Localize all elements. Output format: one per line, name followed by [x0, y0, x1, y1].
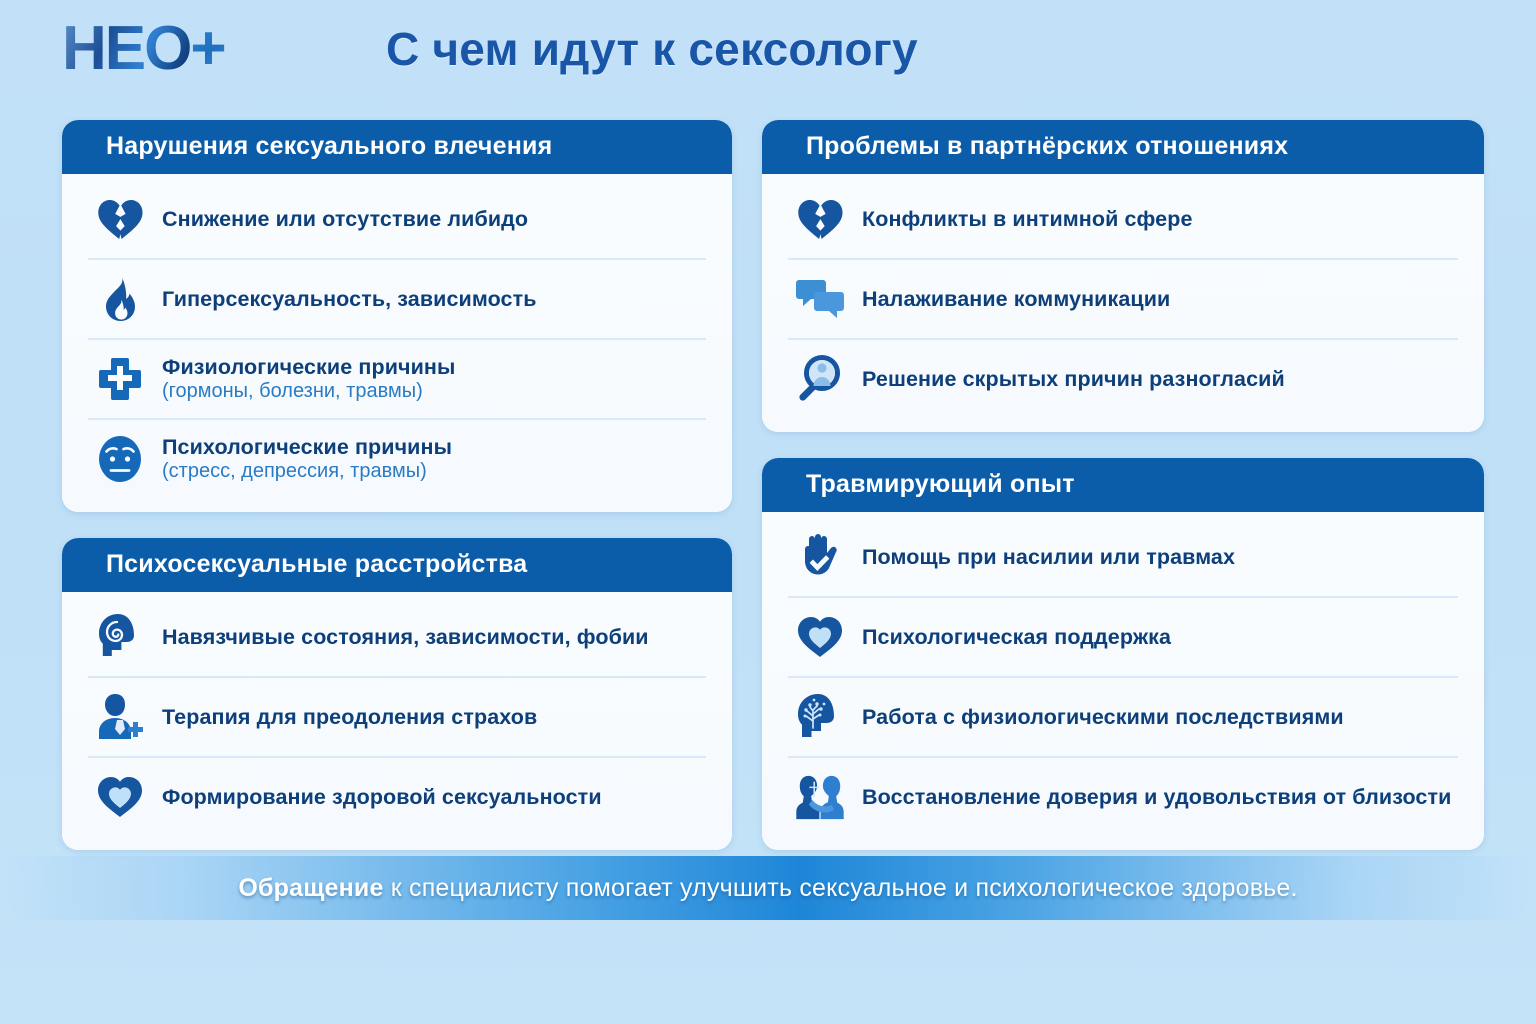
hand-check-icon — [794, 531, 846, 583]
list-item-text: Снижение или отсутствие либидо — [162, 207, 528, 232]
list-item-text: Психологическая поддержка — [862, 625, 1171, 650]
page-header: НЕО+ С чем идут к сексологу — [0, 0, 1536, 110]
brand-logo: НЕО+ — [62, 18, 225, 80]
list-item-text: Физиологические причины (гормоны, болезн… — [162, 355, 706, 403]
card-title: Травмирующий опыт — [806, 470, 1484, 499]
list-item[interactable]: Терапия для преодоления страхов — [88, 678, 706, 758]
list-item-label: Физиологические причины — [162, 355, 455, 379]
list-item-text: Терапия для преодоления страхов — [162, 705, 537, 730]
footer-text: Обращение к специалисту помогает улучшит… — [238, 874, 1297, 903]
heart-inner-icon — [94, 771, 146, 823]
list-item-text: Навязчивые состояния, зависимости, фобии — [162, 625, 649, 650]
card-title: Проблемы в партнёрских отношениях — [806, 132, 1484, 161]
card-body: Конфликты в интимной сфере Налаживание к… — [762, 174, 1484, 432]
list-item-label: Конфликты в интимной сфере — [862, 207, 1193, 231]
head-spiral-icon — [94, 611, 146, 663]
chat-bubbles-icon — [794, 273, 846, 325]
head-tree-icon — [794, 691, 846, 743]
list-item-sub: (стресс, депрессия, травмы) — [162, 460, 427, 482]
card-title: Нарушения сексуального влечения — [106, 132, 732, 161]
list-item[interactable]: Физиологические причины (гормоны, болезн… — [88, 340, 706, 420]
footer-banner: Обращение к специалисту помогает улучшит… — [0, 856, 1536, 920]
card-title: Психосексуальные расстройства — [106, 550, 732, 579]
card-header: Проблемы в партнёрских отношениях — [762, 120, 1484, 174]
footer-lead: Обращение — [238, 874, 383, 902]
card-body: Снижение или отсутствие либидо Гиперсекс… — [62, 174, 732, 512]
list-item-label: Терапия для преодоления страхов — [162, 705, 537, 729]
list-item-label: Психологическая поддержка — [862, 625, 1171, 649]
list-item-text: Работа с физиологическими последствиями — [862, 705, 1344, 730]
list-item-label: Работа с физиологическими последствиями — [862, 705, 1344, 729]
medical-cross-icon — [94, 353, 146, 405]
list-item[interactable]: Навязчивые состояния, зависимости, фобии — [88, 598, 706, 678]
magnifier-person-icon — [794, 353, 846, 405]
list-item-text: Решение скрытых причин разногласий — [862, 367, 1285, 392]
list-item[interactable]: Формирование здоровой сексуальности — [88, 758, 706, 836]
list-item[interactable]: Налаживание коммуникации — [788, 260, 1458, 340]
list-item[interactable]: Снижение или отсутствие либидо — [88, 180, 706, 260]
list-item-label: Психологические причины — [162, 435, 452, 459]
card-header: Нарушения сексуального влечения — [62, 120, 732, 174]
flame-icon — [94, 273, 146, 325]
list-item-label: Помощь при насилии или травмах — [862, 545, 1235, 569]
list-item[interactable]: Восстановление доверия и удовольствия от… — [788, 758, 1458, 836]
heart-inner-icon — [794, 611, 846, 663]
sad-face-icon — [94, 433, 146, 485]
list-item-text: Восстановление доверия и удовольствия от… — [862, 785, 1451, 810]
card-partner-relationship-problems: Проблемы в партнёрских отношениях Конфли… — [762, 120, 1484, 432]
card-header: Травмирующий опыт — [762, 458, 1484, 512]
list-item[interactable]: Работа с физиологическими последствиями — [788, 678, 1458, 758]
person-plus-icon — [94, 691, 146, 743]
list-item-text: Конфликты в интимной сфере — [862, 207, 1193, 232]
list-item[interactable]: Помощь при насилии или травмах — [788, 518, 1458, 598]
right-column: Проблемы в партнёрских отношениях Конфли… — [762, 120, 1484, 876]
card-body: Навязчивые состояния, зависимости, фобии — [62, 592, 732, 850]
broken-heart-icon — [94, 193, 146, 245]
brand-name: НЕО — [62, 14, 190, 83]
list-item[interactable]: Психологические причины (стресс, депресс… — [88, 420, 706, 498]
list-item-text: Налаживание коммуникации — [862, 287, 1170, 312]
page-title: С чем идут к сексологу — [386, 22, 918, 76]
list-item-label: Гиперсексуальность, зависимость — [162, 287, 537, 311]
list-item-label: Формирование здоровой сексуальности — [162, 785, 602, 809]
infographic-page: НЕО+ С чем идут к сексологу Нарушения се… — [0, 0, 1536, 1024]
broken-heart-icon — [794, 193, 846, 245]
card-body: Помощь при насилии или травмах Психологи… — [762, 512, 1484, 850]
list-item-label: Налаживание коммуникации — [862, 287, 1170, 311]
card-header: Психосексуальные расстройства — [62, 538, 732, 592]
list-item[interactable]: Психологическая поддержка — [788, 598, 1458, 678]
card-traumatic-experience: Травмирующий опыт Помощь при насилии или… — [762, 458, 1484, 850]
list-item-label: Снижение или отсутствие либидо — [162, 207, 528, 231]
list-item-sub: (гормоны, болезни, травмы) — [162, 380, 423, 402]
list-item[interactable]: Решение скрытых причин разногласий — [788, 340, 1458, 418]
footer-rest: к специалисту помогает улучшить сексуаль… — [384, 874, 1298, 902]
list-item-label: Навязчивые состояния, зависимости, фобии — [162, 625, 649, 649]
brand-plus: + — [190, 14, 224, 83]
list-item[interactable]: Конфликты в интимной сфере — [788, 180, 1458, 260]
list-item-text: Психологические причины (стресс, депресс… — [162, 435, 706, 483]
couple-embrace-icon — [794, 771, 846, 823]
list-item-label: Решение скрытых причин разногласий — [862, 367, 1285, 391]
card-psychosexual-disorders: Психосексуальные расстройства Навязчивые… — [62, 538, 732, 850]
left-column: Нарушения сексуального влечения Снижение… — [62, 120, 732, 876]
list-item-text: Помощь при насилии или травмах — [862, 545, 1235, 570]
list-item-text: Гиперсексуальность, зависимость — [162, 287, 537, 312]
list-item-label: Восстановление доверия и удовольствия от… — [862, 785, 1451, 809]
card-sexual-desire-disorders: Нарушения сексуального влечения Снижение… — [62, 120, 732, 512]
list-item-text: Формирование здоровой сексуальности — [162, 785, 602, 810]
list-item[interactable]: Гиперсексуальность, зависимость — [88, 260, 706, 340]
